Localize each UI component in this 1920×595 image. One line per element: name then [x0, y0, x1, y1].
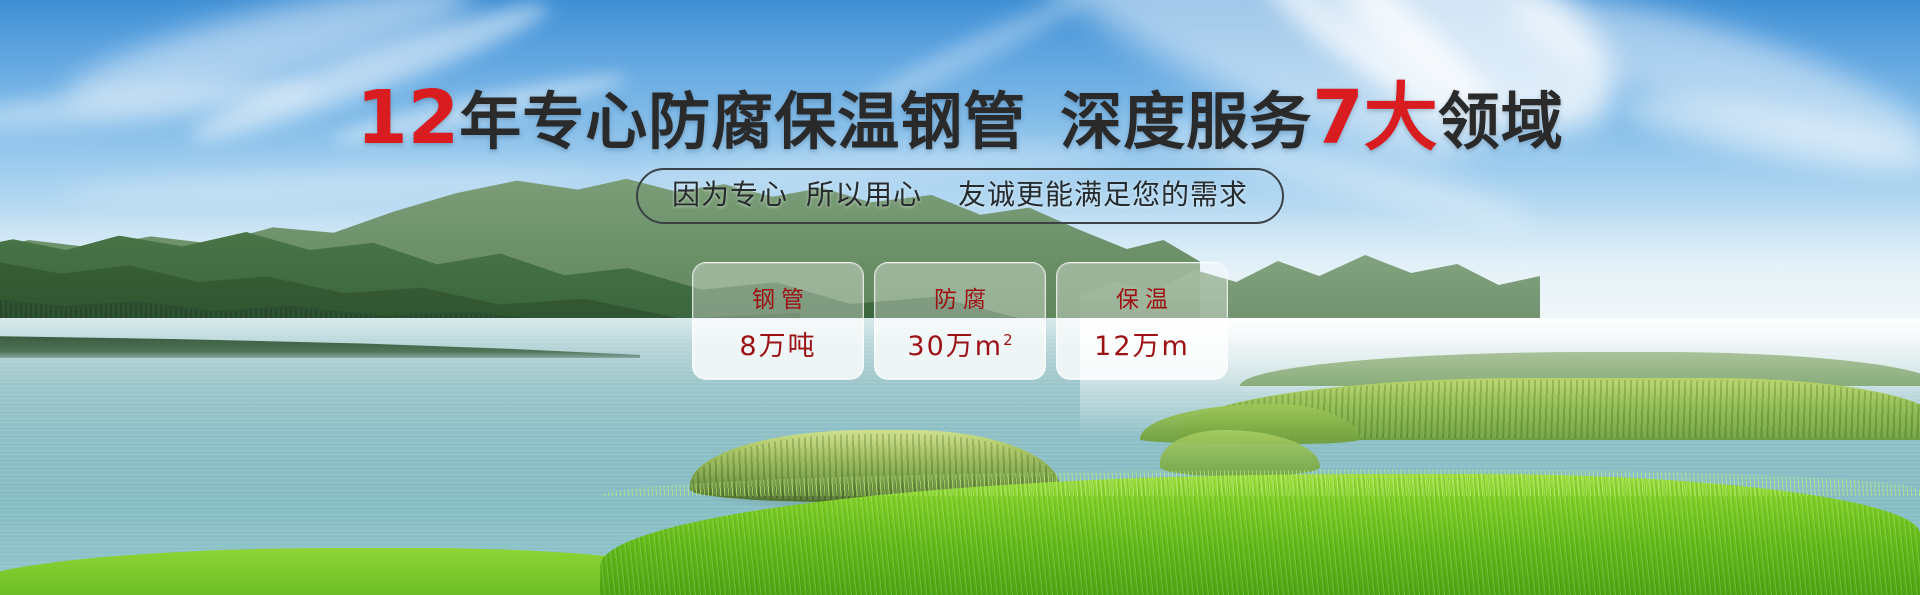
- stat-value: 30万m2: [907, 324, 1012, 363]
- stat-cards-row: 钢管 8万吨 防腐 30万m2 保温 12万m: [0, 262, 1920, 380]
- banner-headline: 12年专心防腐保温钢管深度服务7大领域: [0, 78, 1920, 159]
- stat-label: 防腐: [928, 280, 992, 314]
- subtitle-container: 因为专心所以用心友诚更能满足您的需求: [0, 168, 1920, 224]
- stat-value: 12万m: [1094, 324, 1190, 363]
- subtitle-part-3: 友诚更能满足您的需求: [958, 178, 1248, 211]
- headline-main-text: 年专心防腐保温钢管: [459, 85, 1026, 158]
- stat-label: 钢管: [746, 280, 810, 314]
- subtitle-pill: 因为专心所以用心友诚更能满足您的需求: [636, 168, 1284, 224]
- stat-value: 8万吨: [739, 324, 816, 363]
- headline-service-text: 深度服务: [1060, 85, 1312, 158]
- headline-years-number: 12: [356, 75, 459, 161]
- subtitle-part-2: 所以用心: [806, 178, 922, 211]
- stat-value-text: 12万m: [1094, 331, 1190, 362]
- stat-value-text: 30万m: [907, 331, 1003, 362]
- stat-value-text: 8万吨: [739, 331, 816, 362]
- headline-fields-number: 7大: [1312, 75, 1438, 161]
- stat-card-insulation: 保温 12万m: [1056, 262, 1228, 380]
- subtitle-part-1: 因为专心: [672, 178, 788, 211]
- stat-card-steel-pipe: 钢管 8万吨: [692, 262, 864, 380]
- stat-card-anticorrosion: 防腐 30万m2: [874, 262, 1046, 380]
- headline-fields-text: 领域: [1438, 85, 1564, 158]
- stat-value-superscript: 2: [1003, 331, 1013, 349]
- hero-banner: 12年专心防腐保温钢管深度服务7大领域 因为专心所以用心友诚更能满足您的需求 钢…: [0, 0, 1920, 595]
- stat-label: 保温: [1110, 280, 1174, 314]
